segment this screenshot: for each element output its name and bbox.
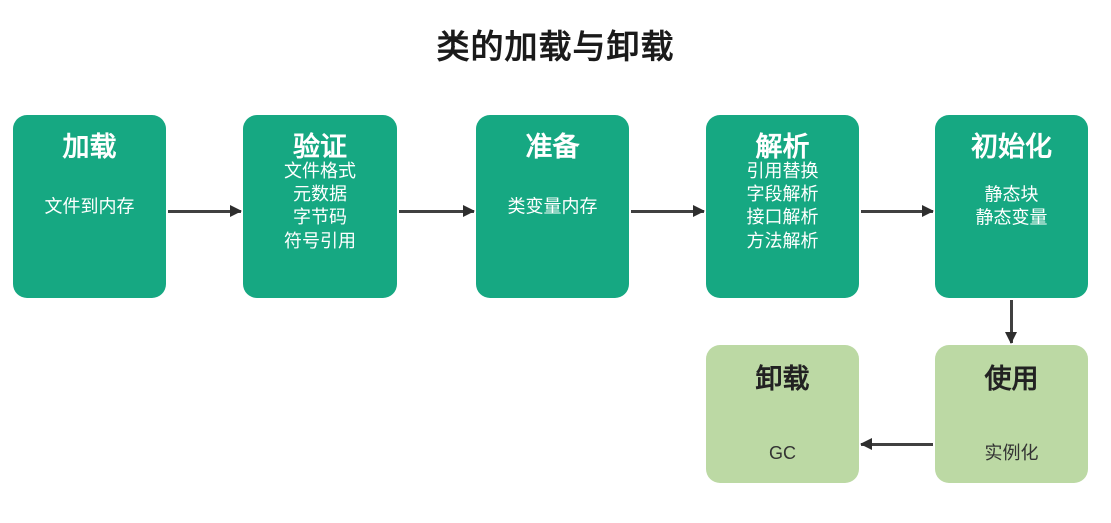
arrowhead-right-icon (463, 205, 475, 217)
node-resolve-body: 引用替换 字段解析 接口解析 方法解析 (706, 160, 859, 254)
arrow-load-to-verify (168, 210, 241, 213)
node-verify[interactable]: 验证 文件格式 元数据 字节码 符号引用 (243, 115, 397, 298)
node-unload-body: GC (706, 442, 859, 465)
page-title: 类的加载与卸载 (0, 20, 1111, 68)
arrowhead-right-icon (230, 205, 242, 217)
node-use[interactable]: 使用 实例化 (935, 345, 1088, 483)
arrow-use-to-unload (861, 443, 933, 446)
node-use-body: 实例化 (935, 442, 1088, 465)
node-unload-title: 卸载 (756, 365, 810, 395)
arrow-resolve-to-initialize (861, 210, 933, 213)
node-prepare-title: 准备 (526, 133, 580, 163)
arrowhead-left-icon (860, 438, 872, 450)
diagram-canvas: 类的加载与卸载 加载 文件到内存 验证 文件格式 元数据 字节码 符号引用 准备… (0, 0, 1111, 523)
node-verify-title: 验证 (293, 133, 347, 163)
arrowhead-right-icon (693, 205, 705, 217)
arrowhead-down-icon (1005, 332, 1017, 344)
node-initialize-body: 静态块 静态变量 (935, 183, 1088, 230)
node-prepare-body: 类变量内存 (476, 195, 629, 218)
node-resolve[interactable]: 解析 引用替换 字段解析 接口解析 方法解析 (706, 115, 859, 298)
node-use-title: 使用 (985, 365, 1039, 395)
node-load[interactable]: 加载 文件到内存 (13, 115, 166, 298)
arrow-prepare-to-resolve (631, 210, 704, 213)
node-initialize-title: 初始化 (971, 133, 1052, 163)
node-load-body: 文件到内存 (13, 195, 166, 218)
node-prepare[interactable]: 准备 类变量内存 (476, 115, 629, 298)
node-unload[interactable]: 卸载 GC (706, 345, 859, 483)
arrowhead-right-icon (922, 205, 934, 217)
node-initialize[interactable]: 初始化 静态块 静态变量 (935, 115, 1088, 298)
arrow-initialize-to-use (1010, 300, 1013, 343)
node-resolve-title: 解析 (756, 133, 810, 163)
node-verify-body: 文件格式 元数据 字节码 符号引用 (243, 160, 397, 254)
arrow-verify-to-prepare (399, 210, 474, 213)
node-load-title: 加载 (63, 133, 117, 163)
